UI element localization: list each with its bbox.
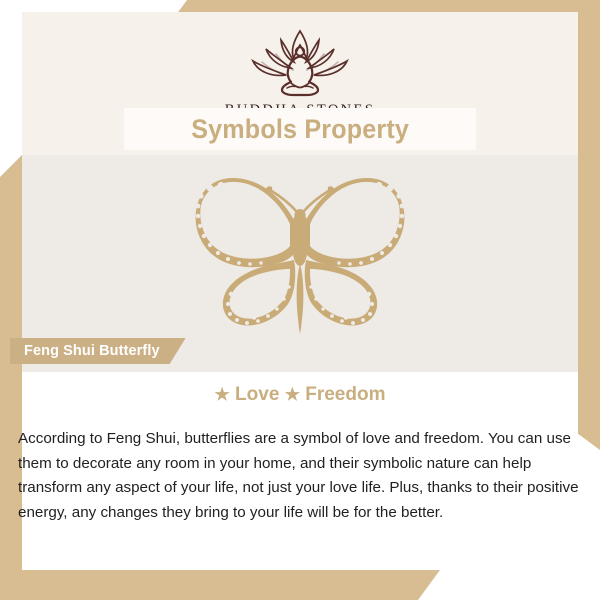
title-banner: Symbols Property: [124, 108, 476, 150]
body-paragraph: According to Feng Shui, butterflies are …: [18, 427, 582, 525]
subheading-word-love: Love: [235, 384, 279, 405]
frame-accent-bottom: [0, 570, 440, 600]
lotus-meditation-icon: [246, 26, 354, 98]
page-title: Symbols Property: [191, 114, 409, 145]
poster-canvas: BUDDHA STONES Symbols Property: [0, 0, 600, 600]
subheading: ★ Love ★ Freedom: [22, 384, 578, 406]
subheading-word-freedom: Freedom: [305, 384, 385, 405]
ribbon-label: Feng Shui Butterfly: [24, 343, 160, 359]
brand-logo: BUDDHA STONES: [22, 26, 578, 119]
star-icon-left: ★: [215, 385, 230, 404]
section-ribbon: Feng Shui Butterfly: [10, 338, 186, 364]
star-icon-mid: ★: [285, 385, 300, 404]
